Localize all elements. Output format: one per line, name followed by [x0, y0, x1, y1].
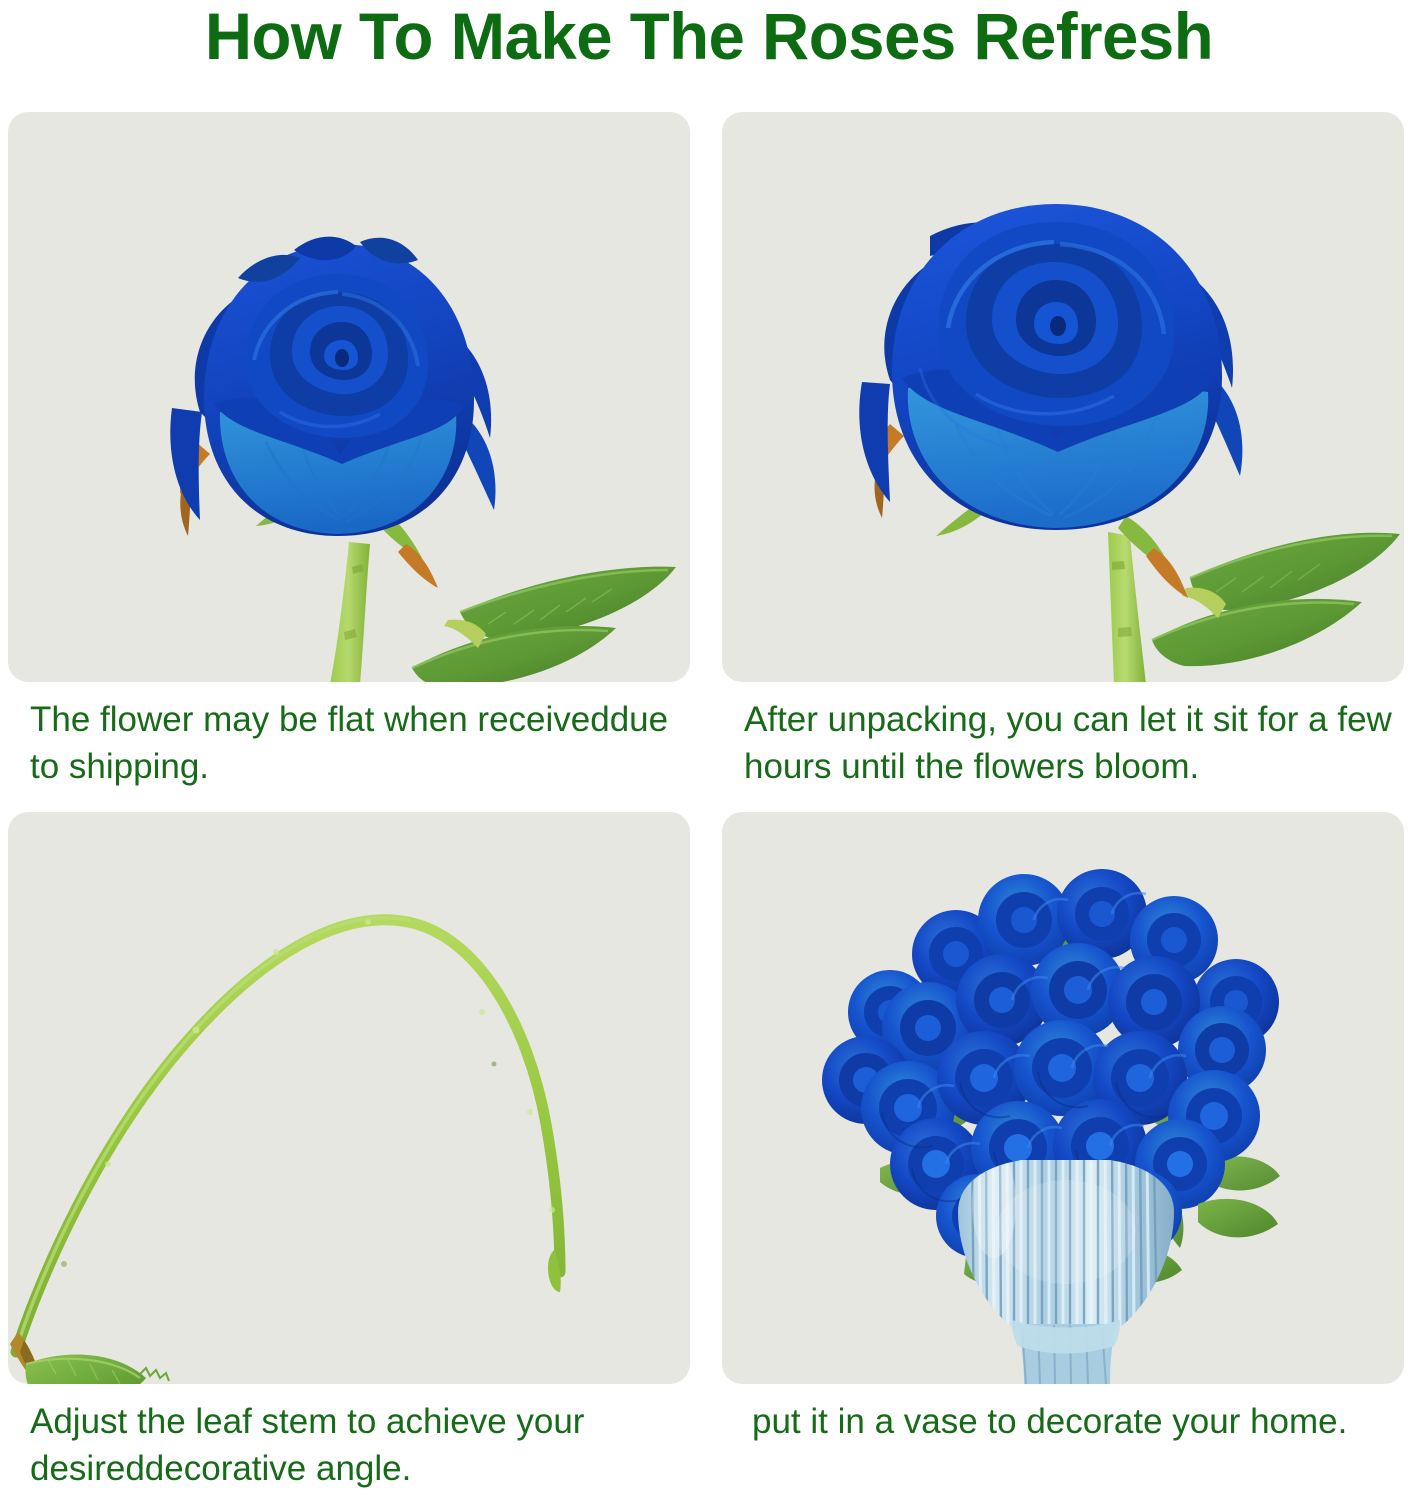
caption-step-3: Adjust the leaf stem to achieve your des…	[8, 1398, 690, 1492]
caption-step-2: After unpacking, you can let it sit for …	[722, 696, 1404, 790]
caption-step-4: put it in a vase to decorate your home.	[722, 1398, 1404, 1445]
instruction-step-3: Adjust the leaf stem to achieve your des…	[8, 812, 690, 1492]
bent-green-stem-arch-image	[8, 812, 690, 1384]
page-title: How To Make The Roses Refresh	[7, 0, 1411, 74]
glass-vase	[958, 1144, 1174, 1384]
panel-vase-bouquet	[722, 812, 1404, 1384]
panel-bent-stem	[8, 812, 690, 1384]
single-blue-rose-bud-closed-image	[8, 112, 690, 682]
blue-rose-bouquet-in-glass-vase-image	[722, 812, 1404, 1384]
panel-bloomed-rose	[722, 112, 1404, 682]
caption-step-1: The flower may be flat when receiveddue …	[8, 696, 690, 790]
panel-flat-rose	[8, 112, 690, 682]
single-blue-rose-bloomed-image	[722, 112, 1404, 682]
instruction-step-2: After unpacking, you can let it sit for …	[722, 112, 1404, 790]
instruction-step-4: put it in a vase to decorate your home.	[722, 812, 1404, 1445]
instruction-step-1: The flower may be flat when receiveddue …	[8, 112, 690, 790]
instruction-grid: The flower may be flat when receiveddue …	[0, 112, 1418, 1500]
